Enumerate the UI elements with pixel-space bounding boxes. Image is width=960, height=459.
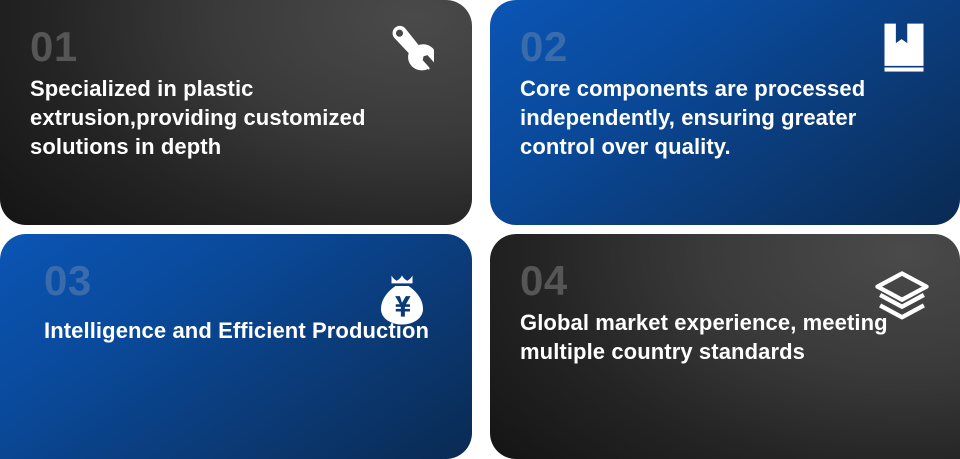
book-bookmark-icon (878, 22, 930, 74)
card-text: Core components are processed independen… (520, 74, 930, 161)
money-bag-yen-icon (374, 272, 430, 328)
feature-card-grid: 01 Specialized in plastic extrusion,prov… (0, 0, 960, 459)
card-number: 02 (520, 26, 930, 68)
feature-card-04[interactable]: 04 Global market experience, meeting mul… (490, 234, 960, 459)
card-text: Global market experience, meeting multip… (520, 308, 912, 366)
layers-stack-icon (874, 270, 930, 326)
card-text: Specialized in plastic extrusion,providi… (30, 74, 442, 161)
feature-card-02[interactable]: 02 Core components are processed indepen… (490, 0, 960, 225)
feature-card-01[interactable]: 01 Specialized in plastic extrusion,prov… (0, 0, 472, 225)
card-number: 04 (520, 260, 930, 302)
feature-card-03[interactable]: 03 Intelligence and Efficient Production (0, 234, 472, 459)
wrench-icon (380, 22, 434, 76)
